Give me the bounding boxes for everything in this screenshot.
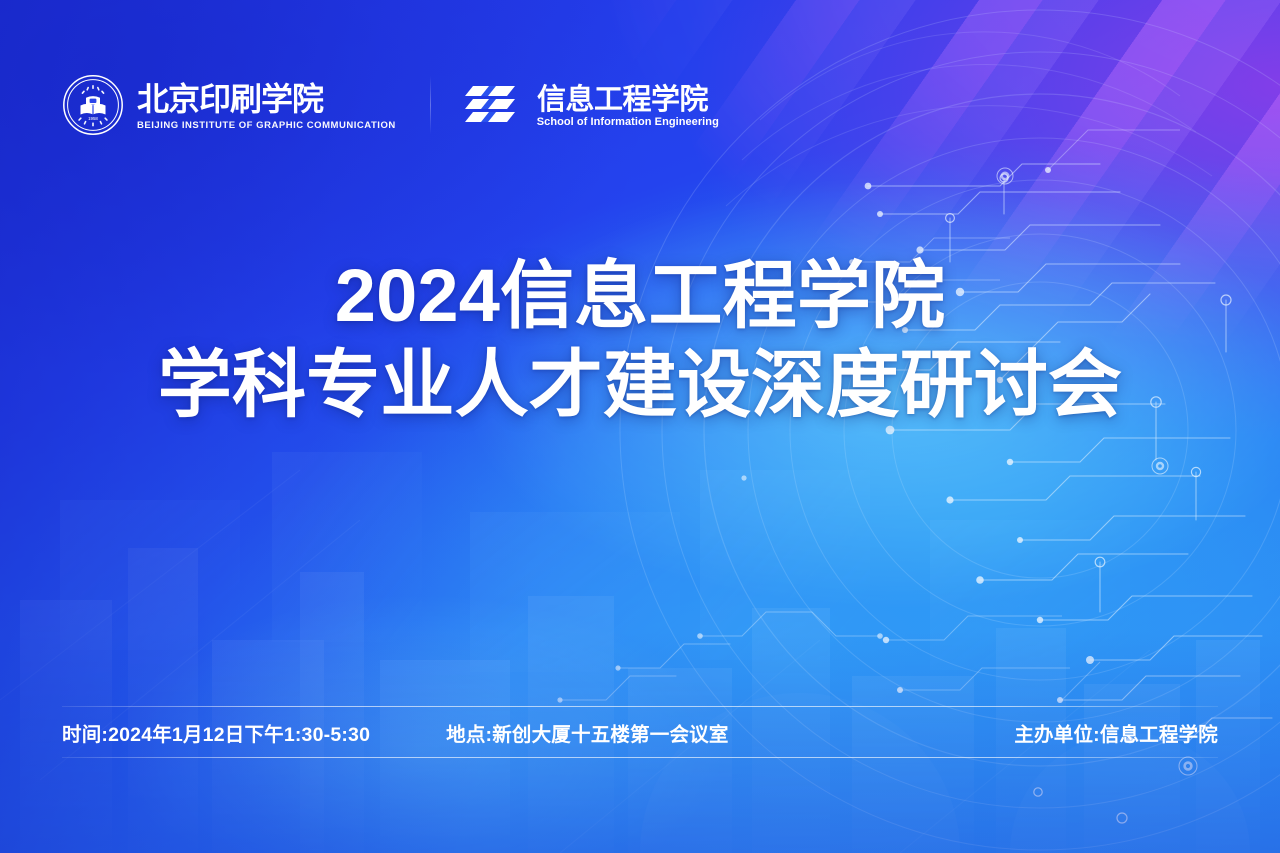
bigc-name-en: BEIJING INSTITUTE OF GRAPHIC COMMUNICATI… <box>137 121 396 131</box>
sie-logo: 信息工程学院 School of Information Engineering <box>465 80 719 130</box>
event-time: 时间:2024年1月12日下午1:30-5:30 <box>62 718 370 747</box>
logo-divider <box>430 76 431 134</box>
title-line-1: 2024信息工程学院 <box>0 255 1280 338</box>
sie-name-cn: 信息工程学院 <box>537 83 717 115</box>
bigc-circular-seal-icon: 1958 <box>62 74 124 136</box>
conference-banner: 1958 北京印刷学院 BEIJING INSTITUTE OF GRAPHIC… <box>0 0 1280 853</box>
svg-text:1958: 1958 <box>88 116 98 121</box>
footer-rule-bottom <box>62 757 1218 758</box>
title-line-2: 学科专业人才建设深度研讨会 <box>0 344 1280 427</box>
banner-title: 2024信息工程学院 学科专业人才建设深度研讨会 <box>0 255 1280 427</box>
sie-three-bars-mark-icon <box>465 80 523 130</box>
footer-meta: 时间:2024年1月12日下午1:30-5:30 地点:新创大厦十五楼第一会议室… <box>0 707 1280 757</box>
banner-footer: 时间:2024年1月12日下午1:30-5:30 地点:新创大厦十五楼第一会议室… <box>0 706 1280 758</box>
sie-name-en: School of Information Engineering <box>537 117 719 128</box>
logo-row: 1958 北京印刷学院 BEIJING INSTITUTE OF GRAPHIC… <box>62 74 719 136</box>
event-place: 地点:新创大厦十五楼第一会议室 <box>446 718 728 747</box>
bigc-logo: 1958 北京印刷学院 BEIJING INSTITUTE OF GRAPHIC… <box>62 74 396 136</box>
bigc-name-cn: 北京印刷学院 <box>137 80 327 118</box>
svg-text:信息工程学院: 信息工程学院 <box>537 83 709 115</box>
svg-text:北京印刷学院: 北京印刷学院 <box>137 80 324 118</box>
event-host: 主办单位:信息工程学院 <box>1014 718 1218 747</box>
